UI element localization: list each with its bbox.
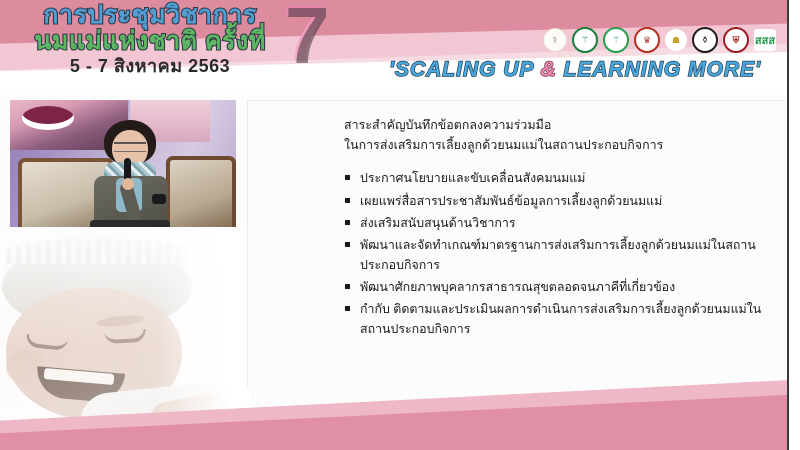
thaihealth-sss-icon: สสส: [755, 31, 775, 49]
garuda-emblem-logo: ☗: [665, 29, 687, 51]
health-department-logo: ⚚: [603, 27, 629, 53]
slide-right-border-line: [787, 0, 789, 450]
list-item: พัฒนาศักยภาพบุคลากรสาธารณสุขตลอดจนภาคีที…: [344, 278, 764, 297]
edition-number-seven: 7: [283, 0, 328, 74]
slide-header-banner: การประชุมวิชาการ นมแม่แห่งชาติ ครั้งที่ …: [0, 0, 790, 95]
list-item: กำกับ ติดตามและประเมินผลการดำเนินการส่งเ…: [344, 300, 764, 339]
slide-right-margin: [788, 0, 800, 450]
royal-crown-icon: ♛: [643, 35, 651, 46]
list-item: เผยแพร่สื่อสารประชาสัมพันธ์ข้อมูลการเลี้…: [344, 192, 764, 211]
slogan-part-open: 'SCALING UP: [389, 58, 541, 81]
presentation-clicker: [152, 194, 166, 204]
presentation-slide: การประชุมวิชาการ นมแม่แห่งชาติ ครั้งที่ …: [0, 0, 800, 450]
speaker-glasses: [114, 142, 146, 152]
list-item: พัฒนาและจัดทำเกณฑ์มาตรฐานการส่งเสริมการเ…: [344, 236, 764, 275]
ministry-public-health-logo: ⚚: [572, 27, 598, 53]
lead-paragraph: สาระสำคัญบันทึกข้อตกลงความร่วมมือ ในการส…: [344, 115, 764, 155]
slide-content-panel: สาระสำคัญบันทึกข้อตกลงความร่วมมือ ในการส…: [247, 100, 785, 386]
speaker-figure: [90, 120, 172, 227]
royal-seal-icon: ⚕: [553, 35, 558, 46]
poster-mouth-detail: [22, 106, 74, 130]
speaker-hand: [122, 178, 134, 190]
royal-crown-emblem-logo: ♛: [634, 27, 660, 53]
lead-line-1: สาระสำคัญบันทึกข้อตกลงความร่วมมือ: [344, 115, 764, 135]
list-item: ส่งเสริมสนับสนุนด้านวิชาการ: [344, 214, 764, 233]
slogan-part-close: LEARNING MORE': [557, 58, 761, 81]
armchair-right: [166, 156, 236, 227]
speaker-video-thumbnail[interactable]: [10, 100, 236, 227]
conference-title-block: การประชุมวิชาการ นมแม่แห่งชาติ ครั้งที่ …: [10, 2, 290, 78]
black-emblem-icon: ⚱: [701, 35, 709, 46]
footer-band-base: [0, 445, 790, 450]
lead-line-2: ในการส่งเสริมการเลี้ยงลูกด้วยนมแม่ในสถาน…: [344, 135, 764, 155]
black-circle-emblem-logo: ⚱: [692, 27, 718, 53]
content-text-block: สาระสำคัญบันทึกข้อตกลงความร่วมมือ ในการส…: [344, 115, 764, 342]
royal-seal-logo: ⚕: [543, 28, 567, 52]
health-department-icon: ⚚: [612, 35, 620, 46]
slogan-ampersand: &: [541, 58, 557, 81]
conference-title-line2: นมแม่แห่งชาติ ครั้งที่: [10, 27, 290, 55]
speaker-lap: [90, 220, 170, 227]
garuda-icon: ☗: [672, 35, 680, 46]
ministry-public-health-icon: ⚚: [581, 35, 589, 46]
thaihealth-sss-logo: สสส: [754, 29, 776, 51]
baby-photo-side-fade: [0, 230, 250, 430]
conference-slogan: 'SCALING UP & LEARNING MORE': [360, 58, 790, 82]
bullet-list: ประกาศนโยบายและขับเคลื่อนสังคมนมแม่ เผยแ…: [344, 169, 764, 339]
red-crest-icon: ⛨: [733, 35, 740, 46]
red-crest-emblem-logo: ⛨: [723, 27, 749, 53]
conference-date-range: 5 - 7 สิงหาคม 2563: [10, 56, 290, 78]
conference-title-line1: การประชุมวิชาการ: [10, 2, 290, 29]
organization-logo-row: ⚕ ⚚ ⚚ ♛ ☗ ⚱ ⛨ สสส: [543, 27, 776, 53]
smiling-baby-photo: [0, 230, 250, 430]
list-item: ประกาศนโยบายและขับเคลื่อนสังคมนมแม่: [344, 169, 764, 188]
